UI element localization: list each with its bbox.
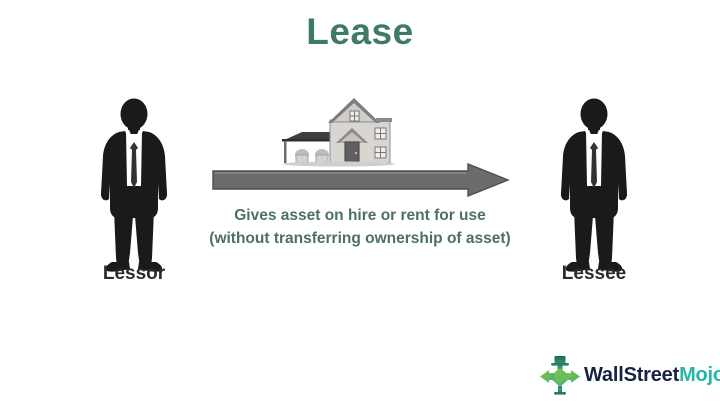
wallstreetmojo-logo-text: WallStreetMojo xyxy=(584,364,720,386)
flow-caption-line-1: Gives asset on hire or rent for use xyxy=(110,204,610,227)
wallstreetmojo-logo[interactable]: WallStreetMojo xyxy=(538,354,720,396)
page-title: Lease xyxy=(0,10,720,54)
house-illustration-icon xyxy=(280,92,398,168)
flow-caption-line-2: (without transferring ownership of asset… xyxy=(110,227,610,250)
flow-arrow-icon xyxy=(212,163,510,197)
flow-caption: Gives asset on hire or rent for use (wit… xyxy=(110,204,610,250)
wallstreetmojo-bull-icon xyxy=(538,354,582,396)
logo-text-mojo: Mojo xyxy=(679,364,720,386)
lessee-label: Lessee xyxy=(494,262,694,286)
logo-text-wallstreet: WallStreet xyxy=(584,364,679,386)
diagram-canvas: Lease xyxy=(0,0,720,403)
lessor-label: Lessor xyxy=(34,262,234,286)
